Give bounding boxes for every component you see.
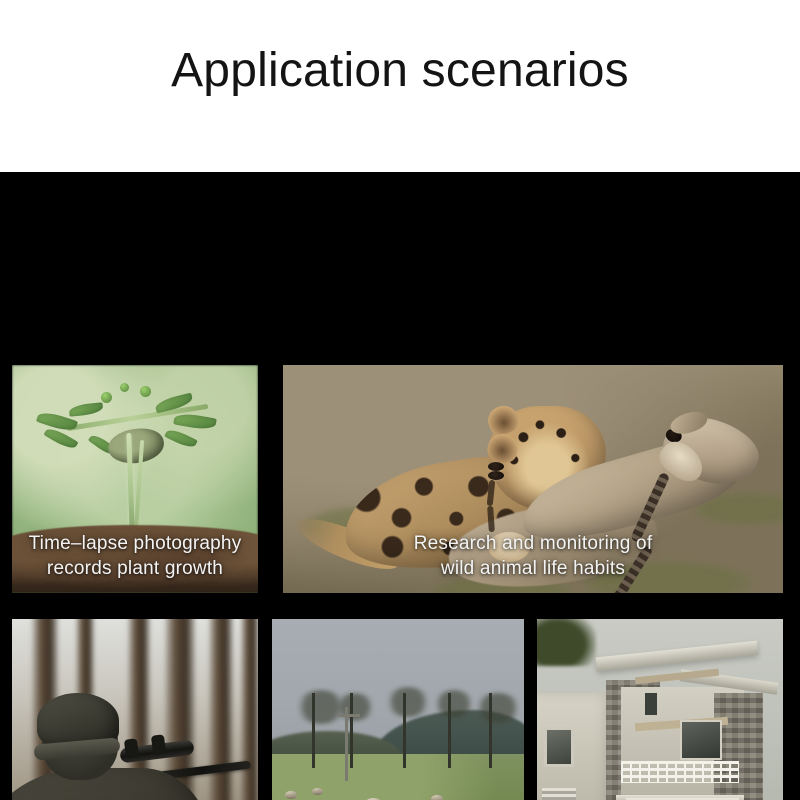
bare-tree-canopy [385,687,431,717]
scenario-card-wild-animal-research[interactable]: Research and monitoring of wild animal l… [283,365,783,593]
balcony-railing-vertical-bars [621,761,739,783]
tree-trunk [241,619,258,800]
sheep-distant [285,791,297,799]
bare-tree-trunk [312,693,315,767]
bud-icon [101,392,112,403]
scenario-caption: Time–lapse photography records plant gro… [12,531,258,581]
utility-pole-crossarm [338,714,360,717]
sheep-distant [431,795,443,800]
sheep-distant [312,788,323,795]
cheetah-eye-left [488,462,504,471]
wall-louver-vent [542,788,576,800]
scenario-card-hunting[interactable]: Hunting [12,619,258,800]
page-root: Application scenarios [0,0,800,800]
foliage-overhang [537,619,596,666]
caption-line-2: records plant growth [18,556,252,581]
scope-ring [124,738,139,758]
neighbor-window [544,727,574,767]
farm-photo [272,619,524,800]
scope-ring [151,734,166,754]
cheetah-eye-right [488,471,504,480]
upper-window [680,720,722,760]
caption-line-2: wild animal life habits [289,556,777,581]
bud-icon [140,386,151,397]
application-scenarios-gallery: Time–lapse photography records plant gro… [0,172,800,800]
bare-tree-trunk [448,693,451,767]
hunting-photo [12,619,258,800]
caption-line-1: Research and monitoring of [289,531,777,556]
scenario-card-home-security[interactable]: Construction site shopping mall home sec… [537,619,783,800]
bare-tree-trunk [403,693,406,767]
bare-tree-trunk [350,693,353,767]
bare-tree-trunk [489,693,492,767]
caption-line-1: Time–lapse photography [18,531,252,556]
house-photo [537,619,783,800]
utility-pole [345,707,348,781]
cheetah-ear-right [485,430,522,465]
scenario-caption: Research and monitoring of wild animal l… [283,531,783,581]
bare-tree-canopy [474,693,522,723]
grass-field [272,754,524,800]
bare-tree-canopy [433,690,475,718]
scenario-card-time-lapse[interactable]: Time–lapse photography records plant gro… [12,365,258,593]
scenario-card-farm-orchard[interactable]: Farm and orchard monitoring [272,619,524,800]
page-title: Application scenarios [0,43,800,99]
upper-narrow-window [645,693,657,715]
